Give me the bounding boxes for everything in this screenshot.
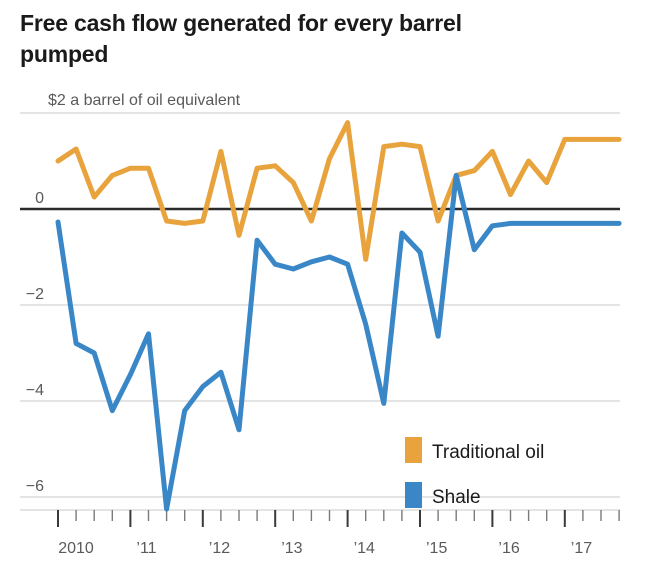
legend-swatch-shale [405,482,422,508]
x-tick-label: ’15 [426,540,447,557]
y-tick-label: −6 [26,478,44,495]
x-tick-label: ’12 [209,540,230,557]
legend-swatch-traditional-oil [405,437,422,463]
x-axis-tick-labels: 2010’11’12’13’14’15’16’17 [58,540,592,557]
x-tick-label: ’17 [571,540,592,557]
y-tick-label: −4 [26,382,44,399]
legend-label: Shale [432,487,481,508]
x-tick-label: ’16 [498,540,519,557]
y-tick-label: −2 [26,286,44,303]
series-line-traditional-oil [58,123,619,260]
y-axis-tick-labels: 0−2−4−6 [26,190,44,495]
y-tick-label: 0 [35,190,44,207]
x-tick-label: ’11 [136,540,156,557]
x-tick-label: 2010 [58,540,94,557]
x-tick-label: ’13 [281,540,302,557]
x-tick-label: ’14 [354,540,375,557]
chart-figure: Free cash flow generated for every barre… [0,0,668,580]
chart-plot-area: 0−2−4−6 2010’11’12’13’14’15’16’17 Tradit… [0,0,668,580]
legend-label: Traditional oil [432,442,544,463]
x-axis-ticks [58,510,619,527]
